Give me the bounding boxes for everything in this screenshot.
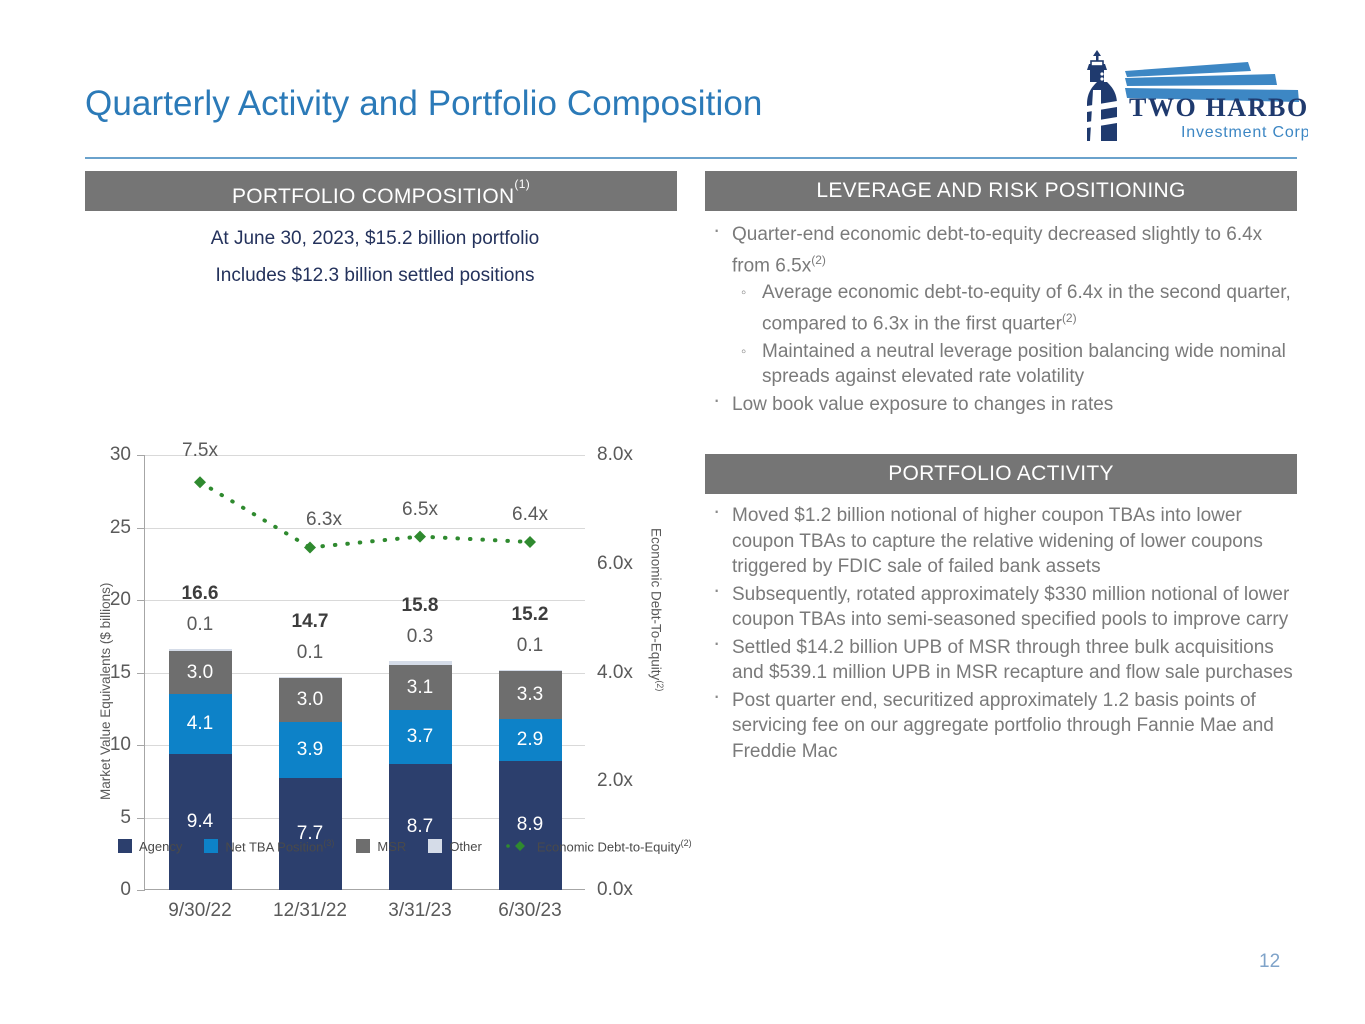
y-axis-tick-label: 0 [85, 879, 131, 901]
chart-line-marker[interactable] [194, 476, 206, 488]
chart-line-value-label: 6.5x [402, 499, 438, 521]
section-header-portfolio-composition: PORTFOLIO COMPOSITION(1) [85, 171, 677, 211]
chart-other-value-label: 0.3 [407, 626, 433, 648]
chart-line-marker[interactable] [414, 531, 426, 543]
y2-axis-tick-label: 2.0x [597, 770, 667, 792]
chart-line-dotted-segment [310, 537, 420, 548]
bullet-item: Post quarter end, securitized approximat… [705, 688, 1305, 765]
logo-brand-line1: TWO HARBORS [1129, 93, 1308, 122]
section-header-label: LEVERAGE AND RISK POSITIONING [816, 179, 1185, 202]
bullet-item: Moved $1.2 billion notional of higher co… [705, 503, 1305, 580]
bullet-item: Subsequently, rotated approximately $330… [705, 582, 1305, 633]
sub-bullet-item: Maintained a neutral leverage position b… [705, 339, 1305, 390]
logo-brand-line2: Investment Corp. [1181, 124, 1308, 141]
x-axis-tick-label: 9/30/22 [168, 900, 231, 922]
y-axis-tick [137, 455, 145, 456]
portfolio-composition-chart: At June 30, 2023, $15.2 billion portfoli… [85, 220, 677, 870]
chart-line-marker[interactable] [524, 536, 536, 548]
page-title: Quarterly Activity and Portfolio Composi… [85, 84, 762, 124]
legend-swatch-icon [204, 839, 218, 853]
chart-subtitle-line1: At June 30, 2023, $15.2 billion portfoli… [95, 220, 655, 257]
chart-total-label: 16.6 [182, 583, 219, 605]
y-axis-tick [137, 745, 145, 746]
section-header-portfolio-activity: PORTFOLIO ACTIVITY [705, 454, 1297, 494]
y-axis-tick [137, 528, 145, 529]
y2-axis-tick-label: 0.0x [597, 879, 667, 901]
y-axis-tick [137, 818, 145, 819]
chart-line-marker[interactable] [304, 541, 316, 553]
legend-label: Other [449, 839, 482, 854]
legend-label: Net TBA Position(3) [225, 838, 334, 854]
legend-swatch-icon [118, 839, 132, 853]
x-axis-tick-label: 12/31/22 [273, 900, 347, 922]
chart-legend: AgencyNet TBA Position(3)MSROtherEconomi… [118, 838, 714, 854]
y-axis-tick-label: 30 [85, 444, 131, 466]
legend-item[interactable]: Economic Debt-to-Equity(2) [504, 838, 692, 854]
company-logo: TWO HARBORS Investment Corp. [1063, 44, 1308, 144]
chart-line-value-label: 6.3x [306, 509, 342, 531]
chart-subtitle-line2: Includes $12.3 billion settled positions [95, 257, 655, 294]
chart-line-value-label: 6.4x [512, 504, 548, 526]
lighthouse-logo-icon: TWO HARBORS Investment Corp. [1063, 44, 1308, 144]
chart-total-label: 15.8 [402, 595, 439, 617]
y-axis-tick [137, 600, 145, 601]
section-header-label: PORTFOLIO COMPOSITION [232, 185, 514, 208]
y-axis-tick-label: 25 [85, 517, 131, 539]
title-divider [85, 157, 1297, 159]
y-axis-tick-label: 5 [85, 807, 131, 829]
page-number: 12 [1259, 951, 1280, 973]
bullet-item: Quarter-end economic debt-to-equity decr… [705, 222, 1305, 278]
section-header-leverage: LEVERAGE AND RISK POSITIONING [705, 171, 1297, 211]
legend-swatch-icon [428, 839, 442, 853]
y2-axis-tick-label: 8.0x [597, 444, 667, 466]
legend-item[interactable]: Other [428, 839, 482, 854]
section-header-label: PORTFOLIO ACTIVITY [888, 462, 1114, 485]
x-axis-tick-label: 3/31/23 [388, 900, 451, 922]
y-axis-tick [137, 673, 145, 674]
legend-label: Agency [139, 839, 182, 854]
legend-dot-diamond-icon [504, 840, 530, 852]
legend-swatch-icon [356, 839, 370, 853]
y-axis-tick [137, 890, 145, 891]
chart-plot-wrapper: 9.44.13.07.73.93.08.73.73.18.92.93.3 051… [85, 330, 677, 870]
chart-line-value-label: 7.5x [182, 440, 218, 462]
chart-other-value-label: 0.1 [517, 635, 543, 657]
legend-item[interactable]: MSR [356, 839, 406, 854]
legend-label: MSR [377, 839, 406, 854]
chart-line-dotted-segment [200, 482, 310, 547]
sub-bullet-item: Average economic debt-to-equity of 6.4x … [705, 280, 1305, 336]
bullet-item: Settled $14.2 billion UPB of MSR through… [705, 635, 1305, 686]
bullet-item: Low book value exposure to changes in ra… [705, 392, 1305, 418]
portfolio-activity-bullet-list: Moved $1.2 billion notional of higher co… [705, 503, 1305, 766]
chart-total-label: 14.7 [292, 611, 329, 633]
legend-item[interactable]: Net TBA Position(3) [204, 838, 334, 854]
legend-label: Economic Debt-to-Equity(2) [537, 838, 692, 854]
chart-other-value-label: 0.1 [187, 614, 213, 636]
y2-axis-title: Economic Debt-To-Equity(2) [649, 528, 666, 691]
footnote-marker: (1) [514, 177, 530, 191]
chart-line-dotted-segment [420, 537, 530, 542]
legend-item[interactable]: Agency [118, 839, 182, 854]
chart-other-value-label: 0.1 [297, 642, 323, 664]
y-axis-title: Market Value Equivalents ($ billions) [98, 583, 113, 800]
chart-total-label: 15.2 [512, 604, 549, 626]
leverage-bullet-list: Quarter-end economic debt-to-equity decr… [705, 222, 1305, 419]
x-axis-tick-label: 6/30/23 [498, 900, 561, 922]
slide: Quarterly Activity and Portfolio Composi… [0, 0, 1365, 1024]
